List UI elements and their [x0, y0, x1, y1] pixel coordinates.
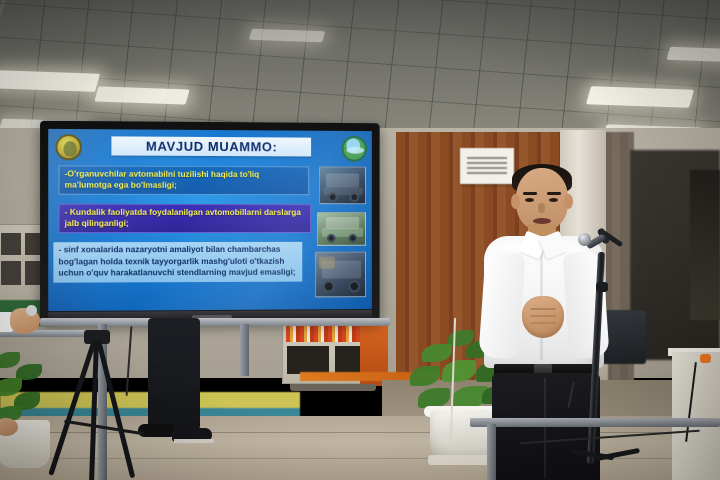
university-emblem-icon: [55, 134, 82, 160]
slide-bullet-3-text: - sinf xonalarida nazaryotni amaliyot bi…: [58, 244, 297, 279]
left-arm: [478, 251, 525, 360]
slide-bullet-3: - sinf xonalarida nazaryotni amaliyot bi…: [53, 242, 302, 282]
ceiling-sheen: [0, 0, 720, 140]
slide-title: MAVJUD MUAMMO:: [111, 136, 311, 156]
slide-bullet-2-text: - Kundalik faoliyatda foydalanilgan avto…: [65, 207, 306, 229]
photo-scene: MAVJUD MUAMMO: -O'rganuvchilar avtomabil…: [0, 0, 720, 480]
slide-bullet-2: - Kundalik faoliyatda foydalanilgan avto…: [58, 204, 311, 233]
tv-screen[interactable]: MAVJUD MUAMMO: -O'rganuvchilar avtomabil…: [48, 129, 372, 311]
slide-title-banner: MAVJUD MUAMMO:: [111, 136, 311, 156]
ear: [564, 194, 573, 209]
ceiling-light-panel: [0, 70, 100, 92]
slide-bullet-1: -O'rganuvchilar avtomabilni tuzilishi ha…: [58, 165, 309, 195]
pointer-device: [26, 305, 37, 316]
trouser-pleat: [544, 378, 546, 478]
right-background-shelf: [690, 170, 720, 320]
shoe-sole: [174, 439, 214, 443]
tv-stand-top-rail: [40, 318, 390, 326]
tripod-brace: [64, 420, 143, 435]
hand-with-pointer: [0, 306, 42, 340]
camera-tripod: [58, 330, 168, 480]
ear: [511, 194, 520, 209]
slide-thumbnail-truck: [319, 166, 366, 204]
tripod-leg: [96, 339, 135, 478]
finger-lines: [530, 308, 556, 310]
slide-bullet-1-text: -O'rganuvchilar avtomabilni tuzilishi ha…: [65, 168, 304, 191]
tv-stand-leg: [487, 424, 496, 480]
left-plant-foliage: [0, 352, 52, 426]
ceiling: [0, 0, 720, 140]
nose: [538, 203, 545, 213]
flat-screen-tv[interactable]: MAVJUD MUAMMO: -O'rganuvchilar avtomabil…: [40, 121, 380, 324]
slide-thumbnail-chassis: [315, 252, 366, 298]
presentation-slide: MAVJUD MUAMMO: -O'rganuvchilar avtomabil…: [48, 129, 372, 311]
ceiling-light-panel: [586, 86, 694, 108]
tripod-leg: [89, 340, 99, 480]
slide-thumbnail-suv: [317, 212, 366, 246]
clasped-hands: [522, 296, 564, 338]
ceiling-light-panel: [666, 47, 720, 62]
bookshelf-base: [290, 384, 376, 391]
presenter: [478, 168, 628, 480]
ceiling-light-panel: [94, 86, 189, 104]
tv-stand-front-rail: [470, 418, 720, 427]
orange-device: [700, 354, 711, 363]
microphone-head-icon: [578, 233, 591, 246]
institute-emblem-icon: [342, 136, 367, 162]
tv-stand-leg: [240, 324, 249, 376]
white-podium: [672, 352, 720, 480]
microphone-stand-adjuster: [596, 282, 608, 292]
